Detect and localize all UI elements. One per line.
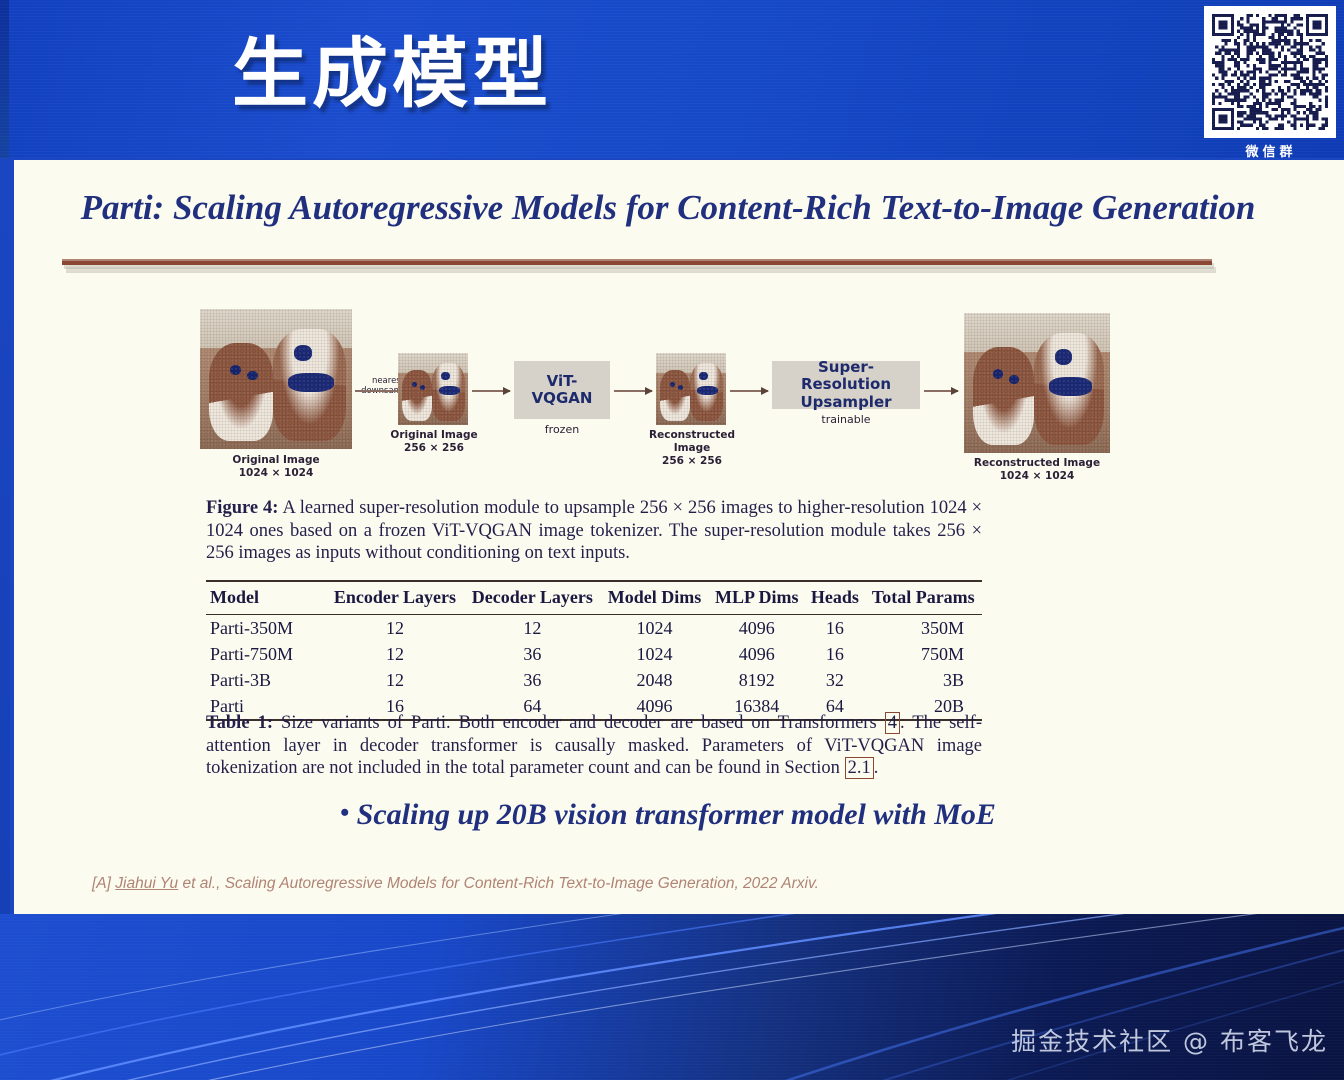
cell-model-dims: 2048: [601, 667, 709, 693]
content-panel: Parti: Scaling Autoregressive Models for…: [10, 160, 1344, 914]
title-rule: [62, 259, 1212, 265]
cell-encoder-layers: 12: [326, 615, 464, 642]
cell-heads: 16: [805, 615, 864, 642]
cell-total-params: 750M: [865, 641, 982, 667]
cell-encoder-layers: 12: [326, 667, 464, 693]
cell-model-dims: 1024: [601, 641, 709, 667]
original-image-256-caption: Original Image 256 × 256: [388, 429, 480, 455]
cell-heads: 32: [805, 667, 864, 693]
th-model: Model: [206, 581, 326, 615]
arrow-to-recon256: [614, 390, 652, 392]
cell-model-dims: 1024: [601, 615, 709, 642]
cell-heads: 16: [805, 641, 864, 667]
slide-header: 生成模型 微信群: [0, 0, 1344, 158]
figure-caption-prefix: Figure 4:: [206, 498, 278, 518]
bullet-marker: •: [340, 798, 349, 827]
cell-model: Parti-750M: [206, 641, 326, 667]
cell-decoder-layers: 12: [464, 615, 601, 642]
table-caption-part3: .: [874, 758, 879, 778]
citation-line: [A] Jiahui Yu et al., Scaling Autoregres…: [92, 875, 819, 893]
vit-vqgan-box: ViT- VQGAN: [514, 361, 610, 419]
reconstructed-image-1024-thumb: [964, 313, 1110, 453]
th-heads: Heads: [805, 581, 864, 615]
th-encoder-layers: Encoder Layers: [326, 581, 464, 615]
key-point-bullet: • Scaling up 20B vision transformer mode…: [28, 798, 1308, 832]
arrow-to-upsampler: [730, 390, 768, 392]
qr-code-icon[interactable]: [1204, 6, 1336, 138]
table-row: Parti-750M 12 36 1024 4096 16 750M: [206, 641, 982, 667]
paper-title: Parti: Scaling Autoregressive Models for…: [28, 188, 1308, 228]
slide-footer: 掘金技术社区 @ 布客飞龙: [0, 914, 1344, 1080]
citation-link-4[interactable]: 4: [885, 712, 900, 734]
qr-block: 微信群: [1204, 6, 1338, 158]
cell-model: Parti-350M: [206, 615, 326, 642]
table-header-row: Model Encoder Layers Decoder Layers Mode…: [206, 581, 982, 615]
cell-mlp-dims: 4096: [708, 641, 805, 667]
table-caption: Table 1: Size variants of Parti. Both en…: [206, 712, 982, 780]
cell-mlp-dims: 8192: [708, 667, 805, 693]
original-image-1024-caption: Original Image 1024 × 1024: [196, 454, 356, 480]
th-decoder-layers: Decoder Layers: [464, 581, 601, 615]
page-title: 生成模型: [232, 36, 552, 112]
parti-size-variants-table: Model Encoder Layers Decoder Layers Mode…: [206, 580, 982, 721]
header-left-accent: [0, 0, 9, 158]
watermark: 掘金技术社区 @ 布客飞龙: [1011, 1022, 1328, 1058]
table-head: Model Encoder Layers Decoder Layers Mode…: [206, 581, 982, 615]
upsampler-sublabel: trainable: [772, 413, 920, 426]
reconstructed-image-256-caption: Reconstructed Image 256 × 256: [634, 429, 750, 468]
reconstructed-image-256-thumb: [656, 353, 726, 425]
arrow-to-recon1024: [924, 390, 958, 392]
original-image-256-thumb: [398, 353, 468, 425]
cell-total-params: 350M: [865, 615, 982, 642]
cell-model: Parti-3B: [206, 667, 326, 693]
bullet-text: Scaling up 20B vision transformer model …: [357, 798, 996, 831]
cell-decoder-layers: 36: [464, 667, 601, 693]
cell-encoder-layers: 12: [326, 641, 464, 667]
th-total-params: Total Params: [865, 581, 982, 615]
title-rule-shadow: [66, 267, 1216, 273]
figure-caption: Figure 4: A learned super-resolution mod…: [206, 497, 982, 565]
section-link-2-1[interactable]: 2.1: [845, 757, 874, 779]
pipeline-figure: Original Image 1024 × 1024 nearest downs…: [200, 305, 1000, 485]
cell-decoder-layers: 36: [464, 641, 601, 667]
super-resolution-upsampler-box: Super-Resolution Upsampler: [772, 361, 920, 409]
qr-caption: 微信群: [1204, 141, 1338, 158]
arrow-to-vqgan: [472, 390, 510, 392]
th-model-dims: Model Dims: [601, 581, 709, 615]
table-row: Parti-3B 12 36 2048 8192 32 3B: [206, 667, 982, 693]
original-image-1024-thumb: [200, 309, 352, 449]
figure-caption-text: A learned super-resolution module to ups…: [206, 498, 982, 563]
citation-rest: et al., Scaling Autoregressive Models fo…: [178, 875, 819, 892]
table-row: Parti-350M 12 12 1024 4096 16 350M: [206, 615, 982, 642]
table-body: Parti-350M 12 12 1024 4096 16 350M Parti…: [206, 615, 982, 721]
table-caption-prefix: Table 1:: [206, 713, 273, 733]
citation-tag: [A]: [92, 875, 115, 892]
cell-total-params: 3B: [865, 667, 982, 693]
slide-root: 生成模型 微信群 Parti: Scaling Autoregressive M…: [0, 0, 1344, 1080]
vit-vqgan-sublabel: frozen: [514, 423, 610, 436]
cell-mlp-dims: 4096: [708, 615, 805, 642]
table-caption-part1: Size variants of Parti. Both encoder and…: [273, 713, 885, 733]
th-mlp-dims: MLP Dims: [708, 581, 805, 615]
reconstructed-image-1024-caption: Reconstructed Image 1024 × 1024: [952, 457, 1122, 483]
citation-author[interactable]: Jiahui Yu: [115, 875, 178, 892]
